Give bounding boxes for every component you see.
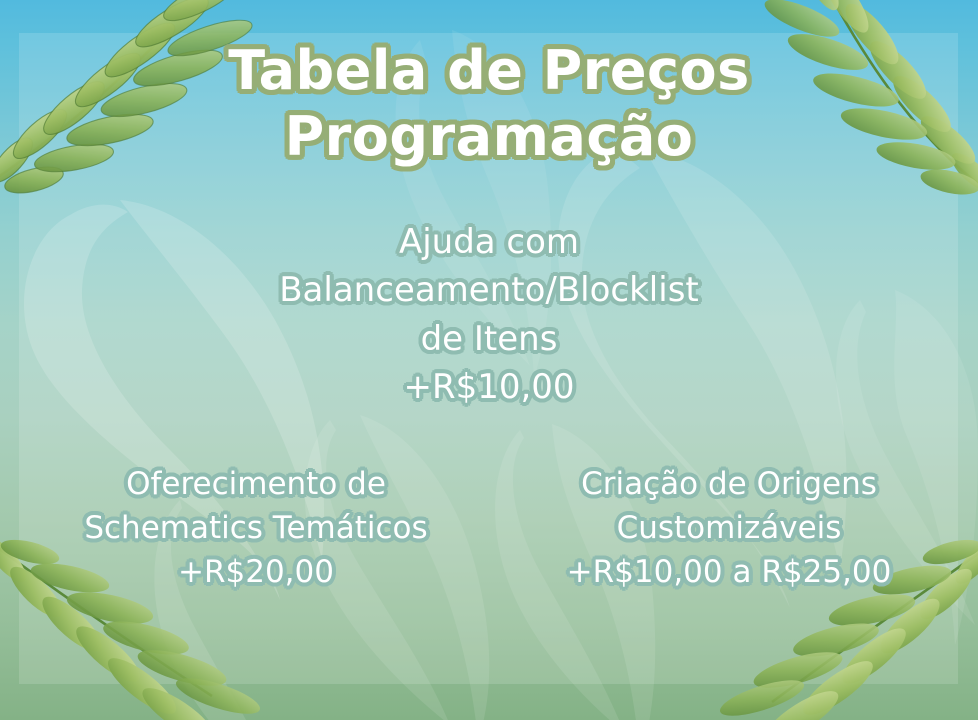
offer-main-price: +R$10,00 (189, 363, 789, 411)
offer-right-line-2: Customizáveis (504, 506, 954, 550)
price-table-poster: Tabela de Preços Programação Ajuda com B… (0, 0, 978, 720)
title-line-2: Programação (0, 104, 978, 170)
title-line-1: Tabela de Preços (0, 38, 978, 104)
offer-right-price: +R$10,00 a R$25,00 (504, 550, 954, 594)
poster-title: Tabela de Preços Programação (0, 38, 978, 170)
offer-item-main: Ajuda com Balanceamento/Blocklist de Ite… (189, 218, 789, 411)
offer-item-right: Criação de Origens Customizáveis +R$10,0… (504, 462, 954, 594)
offer-left-line-1: Oferecimento de (31, 462, 481, 506)
offer-main-line-3: de Itens (189, 315, 789, 363)
offer-left-price: +R$20,00 (31, 550, 481, 594)
offer-right-line-1: Criação de Origens (504, 462, 954, 506)
offer-main-line-2: Balanceamento/Blocklist (189, 266, 789, 314)
offer-main-line-1: Ajuda com (189, 218, 789, 266)
offer-left-line-2: Schematics Temáticos (31, 506, 481, 550)
offer-item-left: Oferecimento de Schematics Temáticos +R$… (31, 462, 481, 594)
